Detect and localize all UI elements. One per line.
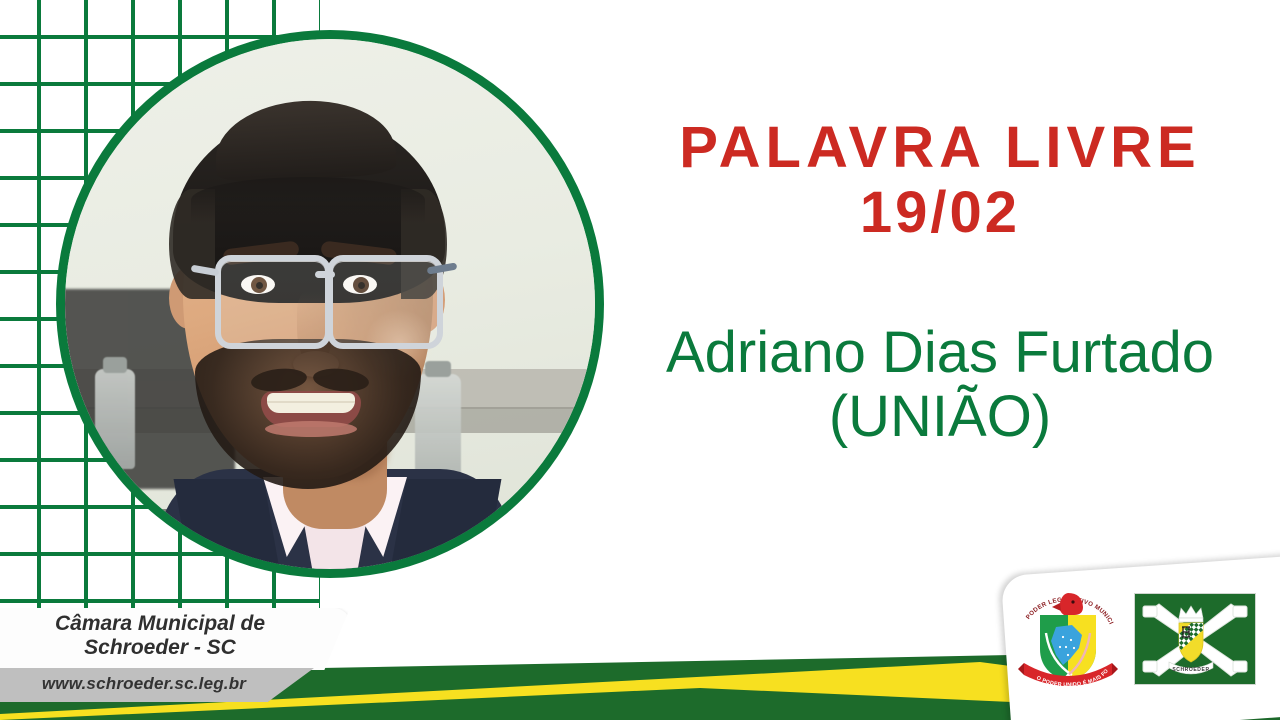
photo-glasses-lens-right — [327, 255, 443, 349]
institution-banner: Câmara Municipal de Schroeder - SC www.s… — [0, 608, 350, 704]
session-date: 19/02 — [600, 177, 1280, 250]
photo-bottle-left — [95, 369, 135, 469]
photo-teeth-line — [267, 401, 355, 403]
speaker-party: (UNIÃO) — [600, 385, 1280, 450]
logo-group: PODER LEGISLATIVO MUNICIPAL — [1016, 586, 1266, 696]
emblem-icon: PODER LEGISLATIVO MUNICIPAL — [1016, 585, 1120, 693]
photo-teeth — [267, 393, 355, 413]
photo-hairline — [191, 177, 425, 223]
broadcast-lower-third-slide: PALAVRA LIVRE 19/02 Adriano Dias Furtado… — [0, 0, 1280, 720]
flag-icon: SCHROEDER — [1134, 593, 1256, 685]
speaker-block: Adriano Dias Furtado (UNIÃO) — [600, 322, 1280, 450]
photo-bottle-left-cap — [103, 357, 127, 373]
page-title: PALAVRA LIVRE — [600, 118, 1280, 177]
institution-name-line2: Schroeder - SC — [0, 636, 320, 660]
speaker-name: Adriano Dias Furtado — [600, 322, 1280, 385]
photo-glasses-bridge — [315, 271, 335, 278]
institution-website: www.schroeder.sc.leg.br — [0, 674, 294, 694]
poder-legislativo-emblem-logo: PODER LEGISLATIVO MUNICIPAL — [1016, 585, 1120, 698]
flag-scroll-text: SCHROEDER — [1172, 667, 1209, 673]
institution-name-line1: Câmara Municipal de — [0, 612, 320, 636]
institution-name: Câmara Municipal de Schroeder - SC — [0, 612, 320, 659]
photo-glasses-lens-left — [215, 255, 331, 349]
schroeder-flag-logo: SCHROEDER — [1134, 593, 1256, 690]
photo-bottle-right — [415, 374, 461, 479]
photo-lower-lip — [265, 421, 357, 437]
title-block: PALAVRA LIVRE 19/02 — [600, 118, 1280, 250]
speaker-photo — [65, 39, 595, 569]
